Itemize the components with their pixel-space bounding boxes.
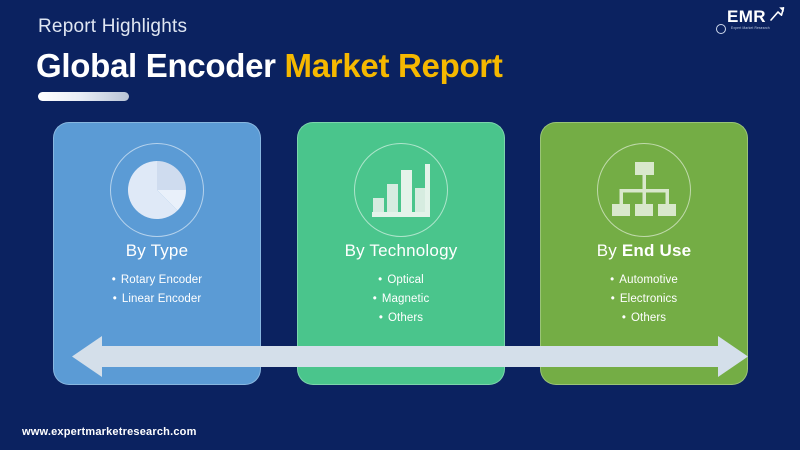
slide-canvas: Report Highlights Global Encoder Market … bbox=[0, 0, 800, 450]
card-bullet-list: •Rotary Encoder •Linear Encoder bbox=[54, 271, 260, 309]
bullet-dot-icon: • bbox=[113, 290, 117, 309]
list-item-label: Optical bbox=[387, 274, 424, 286]
segment-cards: By Type •Rotary Encoder •Linear Encoder … bbox=[0, 0, 800, 450]
card-title: By Technology bbox=[298, 241, 504, 261]
list-item: •Electronics bbox=[541, 290, 747, 309]
list-item: •Others bbox=[298, 309, 504, 328]
bullet-dot-icon: • bbox=[373, 290, 377, 309]
bullet-dot-icon: • bbox=[378, 271, 382, 290]
list-item-label: Rotary Encoder bbox=[121, 274, 202, 286]
list-item-label: Electronics bbox=[620, 293, 677, 305]
bullet-dot-icon: • bbox=[610, 271, 614, 290]
list-item: •Automotive bbox=[541, 271, 747, 290]
card-title: By End Use bbox=[541, 241, 747, 261]
list-item: •Linear Encoder bbox=[54, 290, 260, 309]
list-item-label: Automotive bbox=[619, 274, 678, 286]
list-item: •Rotary Encoder bbox=[54, 271, 260, 290]
card-title: By Type bbox=[54, 241, 260, 261]
double-headed-arrow-icon bbox=[72, 334, 748, 379]
list-item-label: Linear Encoder bbox=[122, 293, 201, 305]
list-item: •Optical bbox=[298, 271, 504, 290]
card-bullet-list: •Optical •Magnetic •Others bbox=[298, 271, 504, 328]
pie-chart-icon bbox=[110, 143, 204, 237]
card-title-regular: By bbox=[597, 241, 622, 260]
list-item-label: Others bbox=[631, 312, 666, 324]
list-item: •Magnetic bbox=[298, 290, 504, 309]
bullet-dot-icon: • bbox=[611, 290, 615, 309]
list-item: •Others bbox=[541, 309, 747, 328]
hierarchy-icon bbox=[597, 143, 691, 237]
bullet-dot-icon: • bbox=[622, 309, 626, 328]
bar-chart-icon bbox=[354, 143, 448, 237]
card-bullet-list: •Automotive •Electronics •Others bbox=[541, 271, 747, 328]
footer-website-url[interactable]: www.expertmarketresearch.com bbox=[22, 426, 197, 438]
bullet-dot-icon: • bbox=[112, 271, 116, 290]
list-item-label: Magnetic bbox=[382, 293, 429, 305]
card-title-bold: End Use bbox=[622, 241, 691, 260]
card-title-regular: By Technology bbox=[345, 241, 458, 260]
bullet-dot-icon: • bbox=[379, 309, 383, 328]
card-title-regular: By Type bbox=[126, 241, 189, 260]
list-item-label: Others bbox=[388, 312, 423, 324]
